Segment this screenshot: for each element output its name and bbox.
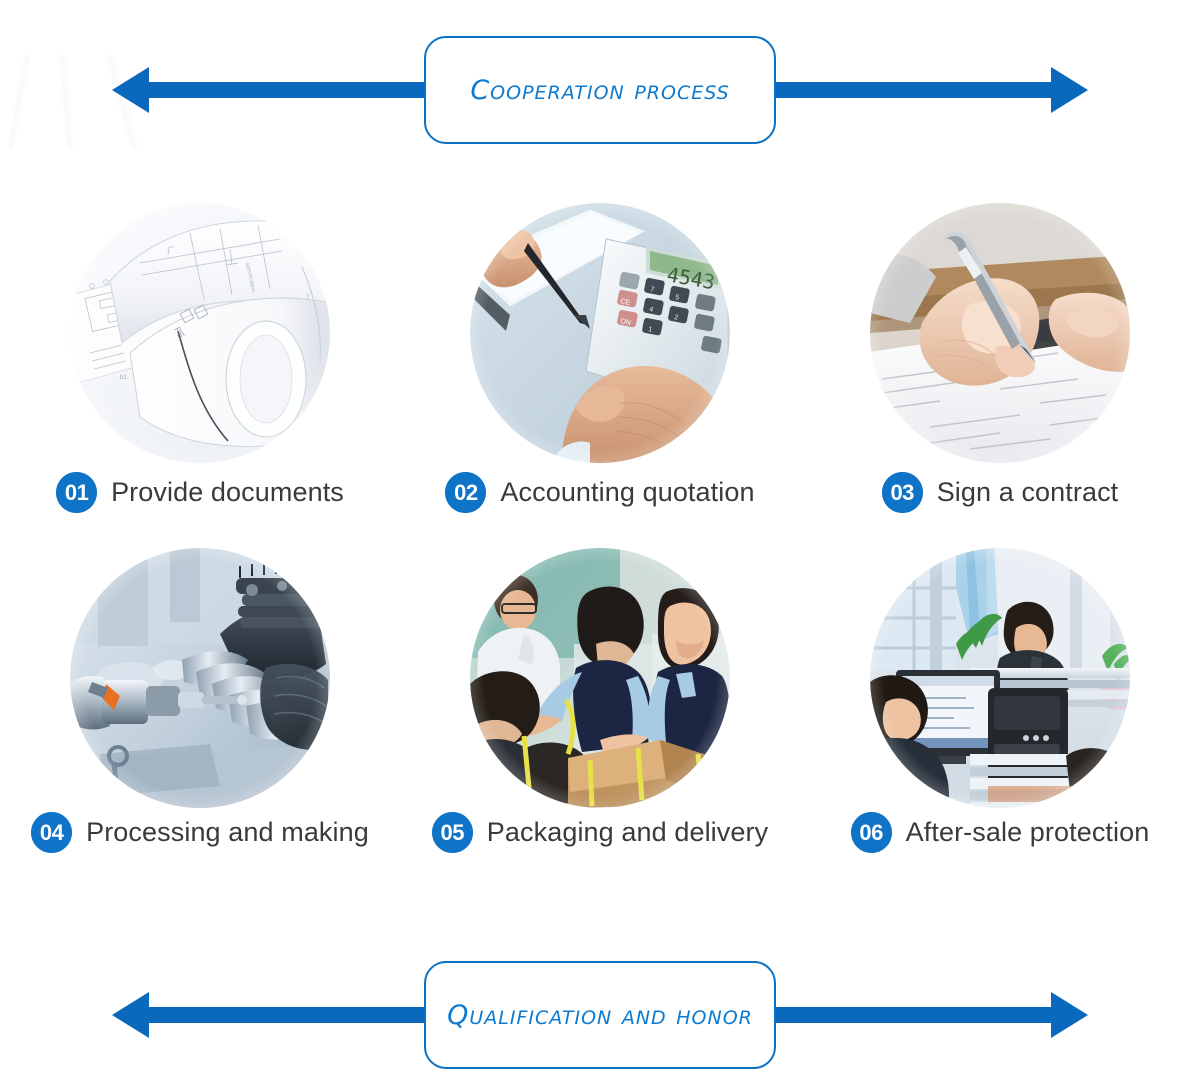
step-label-04: Processing and making bbox=[86, 817, 369, 848]
cooperation-process-banner: Cooperation process bbox=[0, 20, 1200, 160]
svg-text:b1: b1 bbox=[120, 375, 127, 381]
process-steps-grid: 60 W b1 specifi bbox=[0, 195, 1200, 895]
process-step-03-image-wrap bbox=[870, 203, 1130, 463]
process-step-03[interactable]: 03 Sign a contract bbox=[800, 195, 1200, 540]
process-step-02-caption: 02 Accounting quotation bbox=[400, 472, 800, 513]
arrow-right-line bbox=[755, 82, 1055, 98]
arrow-left-line bbox=[145, 1007, 445, 1023]
process-step-02[interactable]: 4543 bbox=[400, 195, 800, 540]
process-steps-row-2: 04 Processing and making bbox=[0, 540, 1200, 885]
section-title-cooperation-process: Cooperation process bbox=[470, 75, 729, 106]
step-badge-05: 05 bbox=[432, 812, 473, 853]
process-step-06-caption: 06 After-sale protection bbox=[800, 812, 1200, 853]
process-step-02-image-wrap: 4543 bbox=[470, 203, 730, 463]
qualification-and-honor-banner: Qualification and honor bbox=[0, 945, 1200, 1085]
arrow-left-icon bbox=[112, 67, 149, 113]
step-label-03: Sign a contract bbox=[937, 477, 1119, 508]
process-step-04-image-wrap bbox=[70, 548, 330, 808]
process-step-05-caption: 05 Packaging and delivery bbox=[400, 812, 800, 853]
banner-box-top: Cooperation process bbox=[424, 36, 776, 144]
office-support-photo bbox=[870, 548, 1130, 808]
process-step-01[interactable]: 60 W b1 specifi bbox=[0, 195, 400, 540]
banner-box-bottom: Qualification and honor bbox=[424, 961, 776, 1069]
process-step-01-caption: 01 Provide documents bbox=[0, 472, 400, 513]
process-step-03-caption: 03 Sign a contract bbox=[800, 472, 1200, 513]
step-label-05: Packaging and delivery bbox=[487, 817, 768, 848]
arrow-left-icon bbox=[112, 992, 149, 1038]
process-step-04-caption: 04 Processing and making bbox=[0, 812, 400, 853]
step-label-06: After-sale protection bbox=[906, 817, 1150, 848]
process-step-01-image-wrap: 60 W b1 specifi bbox=[70, 203, 330, 463]
arrow-right-icon bbox=[1051, 67, 1088, 113]
process-step-05[interactable]: 05 Packaging and delivery bbox=[400, 540, 800, 885]
step-badge-03: 03 bbox=[882, 472, 923, 513]
packaging-staff-photo bbox=[470, 548, 730, 808]
calculator-hands-photo: 4543 bbox=[470, 203, 730, 463]
process-step-04[interactable]: 04 Processing and making bbox=[0, 540, 400, 885]
arrow-right-icon bbox=[1051, 992, 1088, 1038]
arrow-left-line bbox=[145, 82, 445, 98]
step-badge-04: 04 bbox=[31, 812, 72, 853]
process-step-06[interactable]: 06 After-sale protection bbox=[800, 540, 1200, 885]
process-step-06-image-wrap bbox=[870, 548, 1130, 808]
blueprint-rolls-photo: 60 W b1 specifi bbox=[70, 203, 330, 463]
step-badge-02: 02 bbox=[445, 472, 486, 513]
cnc-machining-photo bbox=[70, 548, 330, 808]
contract-signing-photo bbox=[870, 203, 1130, 463]
process-steps-row-1: 60 W b1 specifi bbox=[0, 195, 1200, 540]
arrow-right-line bbox=[755, 1007, 1055, 1023]
step-badge-01: 01 bbox=[56, 472, 97, 513]
section-title-qualification-and-honor: Qualification and honor bbox=[447, 1000, 753, 1031]
step-label-02: Accounting quotation bbox=[500, 477, 754, 508]
step-label-01: Provide documents bbox=[111, 477, 344, 508]
process-step-05-image-wrap bbox=[470, 548, 730, 808]
step-badge-06: 06 bbox=[851, 812, 892, 853]
